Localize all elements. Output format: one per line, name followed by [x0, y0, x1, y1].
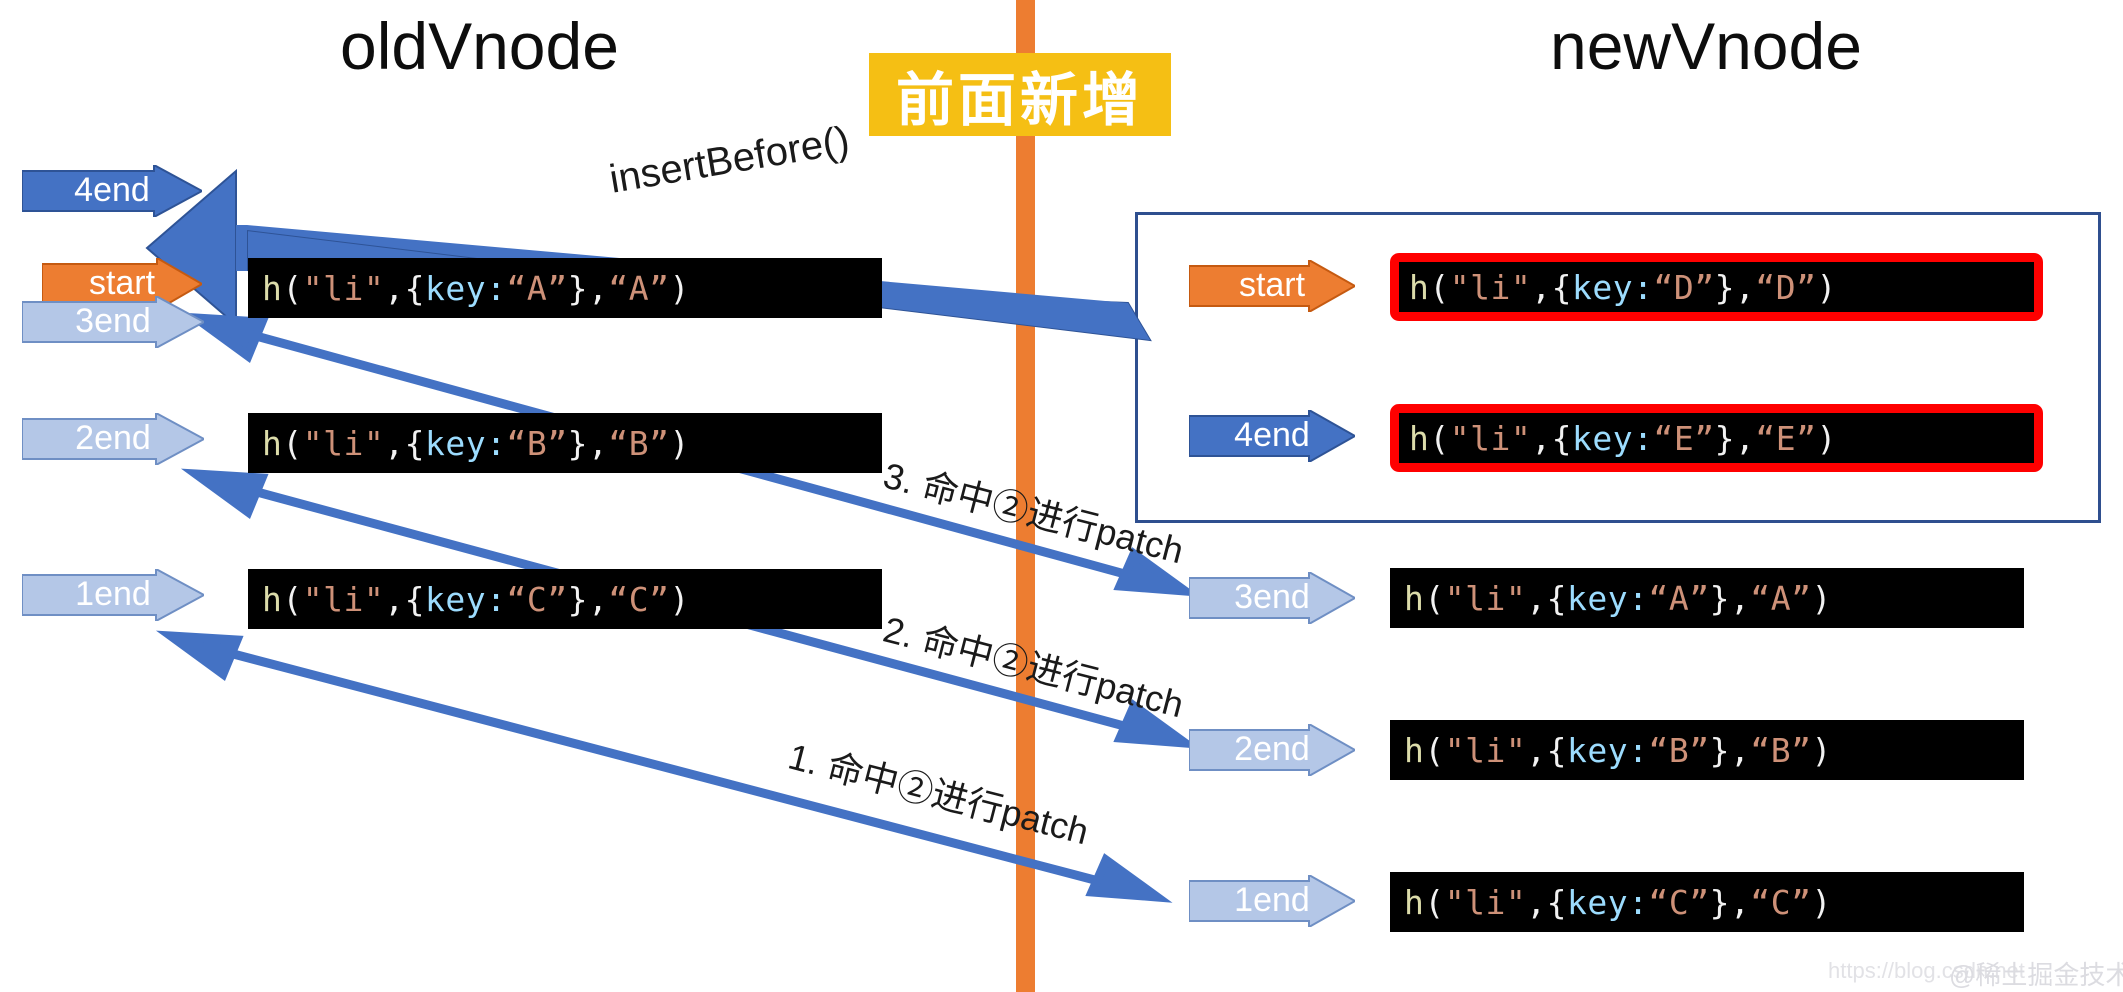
code-token: , [1531, 268, 1551, 307]
code-token: "li" [303, 580, 384, 619]
code-token: ) [669, 424, 689, 463]
code-token: , [1730, 579, 1750, 618]
code-token: ( [1424, 731, 1444, 770]
code-token: “C” [608, 580, 669, 619]
code-token: ( [282, 269, 302, 308]
code-token: h [1404, 731, 1424, 770]
code-token: , [1526, 883, 1546, 922]
code-token: { [405, 580, 425, 619]
code-token: ) [1811, 579, 1831, 618]
code-token: h [262, 269, 282, 308]
code-token: ( [1424, 883, 1444, 922]
code-token: { [1552, 268, 1572, 307]
code-token: { [405, 269, 425, 308]
old-node-b: h("li", { key: “B” }, “B”) [248, 413, 882, 473]
tag-label: 3end [75, 302, 151, 341]
diagram-canvas: oldVnode newVnode 前面新增 [0, 0, 2123, 992]
code-token: ( [282, 424, 302, 463]
code-token: “D” [1653, 268, 1714, 307]
code-token: { [1547, 731, 1567, 770]
code-token: , [1531, 419, 1551, 458]
heading-oldvnode: oldVnode [340, 8, 619, 84]
code-token: , [1735, 419, 1755, 458]
tag-label: 1end [75, 575, 151, 614]
code-token: , [1526, 579, 1546, 618]
code-token: , [588, 580, 608, 619]
new-node-a: h("li", { key: “A” }, “A”) [1390, 568, 2024, 628]
new-node-c: h("li", { key: “C” }, “C”) [1390, 872, 2024, 932]
old-node-c: h("li", { key: “C” }, “C”) [248, 569, 882, 629]
code-token: h [1404, 579, 1424, 618]
code-token: “B” [506, 424, 567, 463]
code-token: “B” [1750, 731, 1811, 770]
code-token: "li" [1450, 419, 1531, 458]
heading-newvnode: newVnode [1550, 8, 1862, 84]
code-token: "li" [1450, 268, 1531, 307]
code-token: } [1710, 731, 1730, 770]
tag-old-3end[interactable]: 3end [22, 296, 204, 348]
code-token: “A” [608, 269, 669, 308]
code-token: ( [1429, 268, 1449, 307]
banner-added-in-front: 前面新增 [869, 53, 1171, 136]
code-token: h [1404, 883, 1424, 922]
code-token: “B” [1648, 731, 1709, 770]
code-token: key: [425, 269, 506, 308]
tag-new-start[interactable]: start [1189, 260, 1355, 312]
code-token: { [1552, 419, 1572, 458]
tag-label: 2end [1234, 730, 1310, 769]
label-patch-1: 1. 命中②进行patch [783, 728, 1094, 855]
code-token: , [1526, 731, 1546, 770]
code-token: , [588, 269, 608, 308]
code-token: } [1710, 579, 1730, 618]
code-token: key: [1567, 883, 1648, 922]
new-node-d: h("li", { key: “D” }, “D”) [1390, 253, 2043, 321]
code-token: } [1715, 268, 1735, 307]
code-token: } [568, 269, 588, 308]
code-token: , [384, 269, 404, 308]
code-token: , [384, 424, 404, 463]
tag-new-1end[interactable]: 1end [1189, 875, 1355, 927]
new-node-e: h("li", { key: “E” }, “E”) [1390, 404, 2043, 472]
new-node-b: h("li", { key: “B” }, “B”) [1390, 720, 2024, 780]
code-token: key: [1572, 419, 1653, 458]
code-token: } [568, 424, 588, 463]
code-token: key: [425, 424, 506, 463]
code-token: "li" [303, 269, 384, 308]
watermark-handle: @稀土掘金技术社区 [1949, 955, 2123, 992]
code-token: h [262, 580, 282, 619]
tag-new-4end[interactable]: 4end [1189, 410, 1355, 462]
code-token: key: [1572, 268, 1653, 307]
code-token: { [405, 424, 425, 463]
code-token: , [588, 424, 608, 463]
code-token: } [1710, 883, 1730, 922]
code-token: ) [1816, 419, 1836, 458]
code-token: h [1409, 268, 1429, 307]
code-token: , [384, 580, 404, 619]
code-token: ( [1429, 419, 1449, 458]
code-token: “E” [1653, 419, 1714, 458]
code-token: , [1730, 731, 1750, 770]
code-token: ) [1811, 883, 1831, 922]
code-token: “E” [1755, 419, 1816, 458]
code-token: “A” [1648, 579, 1709, 618]
code-token: “A” [1750, 579, 1811, 618]
code-token: ) [1816, 268, 1836, 307]
code-token: ( [1424, 579, 1444, 618]
code-token: ) [669, 269, 689, 308]
old-node-a: h("li", { key: “A” }, “A”) [248, 258, 882, 318]
tag-label: 3end [1234, 578, 1310, 617]
code-token: ) [669, 580, 689, 619]
code-token: "li" [1445, 579, 1526, 618]
code-token: “A” [506, 269, 567, 308]
code-token: ( [282, 580, 302, 619]
code-token: "li" [303, 424, 384, 463]
code-token: “C” [1750, 883, 1811, 922]
code-token: } [1715, 419, 1735, 458]
code-token: “D” [1755, 268, 1816, 307]
code-token: “C” [506, 580, 567, 619]
label-insert-before: insertBefore() [606, 118, 852, 202]
code-token: , [1735, 268, 1755, 307]
code-token: { [1547, 579, 1567, 618]
code-token: "li" [1445, 731, 1526, 770]
tag-label: start [89, 264, 155, 303]
tag-old-2end[interactable]: 2end [22, 413, 204, 465]
code-token: } [568, 580, 588, 619]
code-token: key: [1567, 731, 1648, 770]
tag-new-3end[interactable]: 3end [1189, 572, 1355, 624]
code-token: "li" [1445, 883, 1526, 922]
tag-label: 4end [74, 171, 150, 210]
code-token: “B” [608, 424, 669, 463]
tag-label: 2end [75, 419, 151, 458]
code-token: , [1730, 883, 1750, 922]
code-token: h [262, 424, 282, 463]
tag-old-4end[interactable]: 4end [22, 165, 202, 217]
code-token: ) [1811, 731, 1831, 770]
code-token: key: [1567, 579, 1648, 618]
tag-label: 1end [1234, 881, 1310, 920]
tag-label: start [1239, 266, 1305, 305]
code-token: key: [425, 580, 506, 619]
tag-label: 4end [1234, 416, 1310, 455]
tag-old-1end[interactable]: 1end [22, 569, 204, 621]
code-token: “C” [1648, 883, 1709, 922]
code-token: { [1547, 883, 1567, 922]
code-token: h [1409, 419, 1429, 458]
tag-new-2end[interactable]: 2end [1189, 724, 1355, 776]
